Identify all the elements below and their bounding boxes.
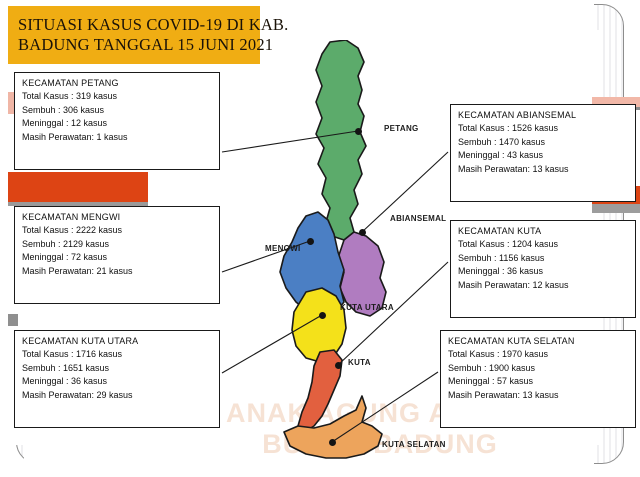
info-box-kuta-utara-title: KECAMATAN KUTA UTARA xyxy=(22,336,212,346)
map-dot-petang xyxy=(355,128,362,135)
info-box-kuta-selatan-recovered: Sembuh : 1900 kasus xyxy=(448,362,628,376)
info-box-petang-recovered: Sembuh : 306 kasus xyxy=(22,104,212,118)
info-box-mengwi: KECAMATAN MENGWI Total Kasus : 2222 kasu… xyxy=(14,206,220,304)
info-box-abiansemal: KECAMATAN ABIANSEMAL Total Kasus : 1526 … xyxy=(450,104,636,202)
info-box-mengwi-active: Masih Perawatan: 21 kasus xyxy=(22,265,212,279)
info-box-kuta-utara-recovered: Sembuh : 1651 kasus xyxy=(22,362,212,376)
info-box-abiansemal-recovered: Sembuh : 1470 kasus xyxy=(458,136,628,150)
leader-line-kuta-selatan xyxy=(332,372,438,442)
info-box-kuta-total: Total Kasus : 1204 kasus xyxy=(458,238,628,252)
info-box-kuta-selatan: KECAMATAN KUTA SELATAN Total Kasus : 197… xyxy=(440,330,636,428)
info-box-kuta-recovered: Sembuh : 1156 kasus xyxy=(458,252,628,266)
info-box-mengwi-deaths: Meninggal : 72 kasus xyxy=(22,251,212,265)
info-box-mengwi-total: Total Kasus : 2222 kasus xyxy=(22,224,212,238)
map-dot-abiansemal xyxy=(359,229,366,236)
info-box-petang-deaths: Meninggal : 12 kasus xyxy=(22,117,212,131)
info-box-kuta-utara-active: Masih Perawatan: 29 kasus xyxy=(22,389,212,403)
info-box-abiansemal-deaths: Meninggal : 43 kasus xyxy=(458,149,628,163)
leader-line-kuta-utara xyxy=(222,315,322,373)
info-box-kuta-selatan-title: KECAMATAN KUTA SELATAN xyxy=(448,336,628,346)
info-box-mengwi-title: KECAMATAN MENGWI xyxy=(22,212,212,222)
leader-line-mengwi xyxy=(222,241,310,272)
info-box-petang-title: KECAMATAN PETANG xyxy=(22,78,212,88)
info-box-petang-active: Masih Perawatan: 1 kasus xyxy=(22,131,212,145)
info-box-kuta-active: Masih Perawatan: 12 kasus xyxy=(458,279,628,293)
map-dot-kuta xyxy=(335,362,342,369)
info-box-petang: KECAMATAN PETANG Total Kasus : 319 kasus… xyxy=(14,72,220,170)
leader-line-petang xyxy=(222,131,358,152)
info-box-kuta-deaths: Meninggal : 36 kasus xyxy=(458,265,628,279)
map-dot-kuta-utara xyxy=(319,312,326,319)
leader-line-kuta xyxy=(338,262,448,365)
info-box-kuta-selatan-total: Total Kasus : 1970 kasus xyxy=(448,348,628,362)
info-box-abiansemal-total: Total Kasus : 1526 kasus xyxy=(458,122,628,136)
info-box-kuta-title: KECAMATAN KUTA xyxy=(458,226,628,236)
leader-line-abiansemal xyxy=(362,152,448,232)
map-dot-mengwi xyxy=(307,238,314,245)
info-box-kuta-selatan-active: Masih Perawatan: 13 kasus xyxy=(448,389,628,403)
info-box-abiansemal-title: KECAMATAN ABIANSEMAL xyxy=(458,110,628,120)
info-box-kuta-utara: KECAMATAN KUTA UTARA Total Kasus : 1716 … xyxy=(14,330,220,428)
map-dot-kuta-selatan xyxy=(329,439,336,446)
info-box-kuta: KECAMATAN KUTA Total Kasus : 1204 kasus … xyxy=(450,220,636,318)
info-box-abiansemal-active: Masih Perawatan: 13 kasus xyxy=(458,163,628,177)
info-box-kuta-utara-deaths: Meninggal : 36 kasus xyxy=(22,375,212,389)
info-box-mengwi-recovered: Sembuh : 2129 kasus xyxy=(22,238,212,252)
info-box-kuta-utara-total: Total Kasus : 1716 kasus xyxy=(22,348,212,362)
info-box-petang-total: Total Kasus : 319 kasus xyxy=(22,90,212,104)
info-box-kuta-selatan-deaths: Meninggal : 57 kasus xyxy=(448,375,628,389)
